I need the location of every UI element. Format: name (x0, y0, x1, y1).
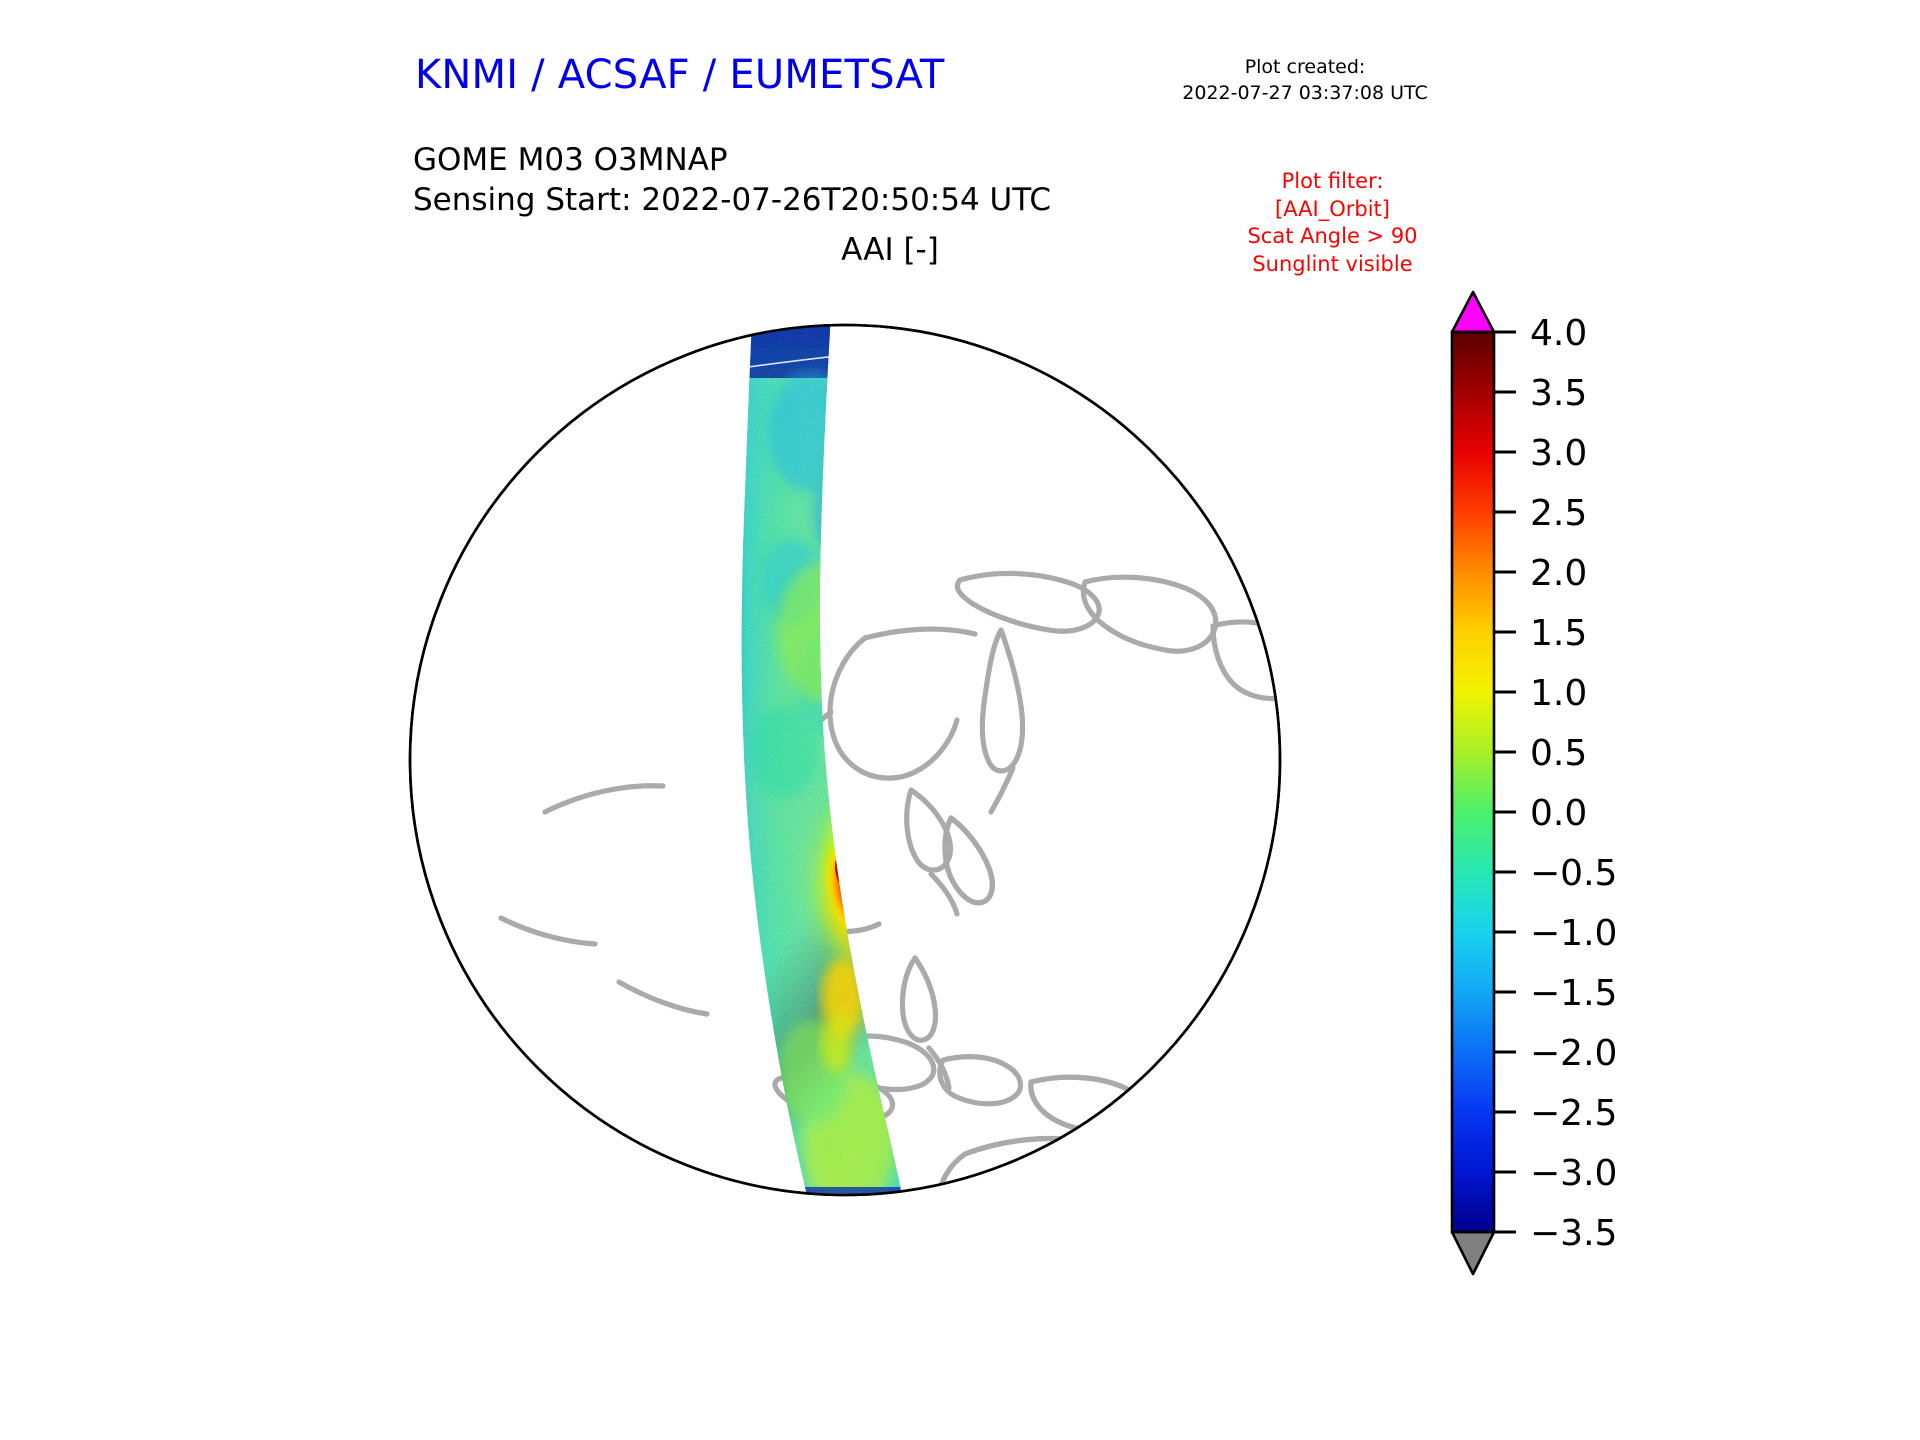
colorbar-tick-label: −3.0 (1530, 1153, 1617, 1194)
colorbar-tick-label: 2.0 (1530, 553, 1587, 594)
colorbar-gradient (1452, 332, 1494, 1232)
colorbar-tick-label: 3.5 (1530, 373, 1587, 414)
colorbar-tick-label: 2.5 (1530, 493, 1587, 534)
colorbar-over-arrow (1452, 292, 1494, 332)
map-panel (395, 282, 1295, 1282)
colorbar-tick-label: −2.0 (1530, 1033, 1617, 1074)
colorbar-tick-labels: 4.03.53.02.52.01.51.00.50.0−0.5−1.0−1.5−… (1530, 313, 1617, 1254)
instrument-product-line: GOME M03 O3MNAP (413, 140, 1051, 180)
colorbar-tick-label: 0.0 (1530, 793, 1587, 834)
colorbar-tick-label: −2.5 (1530, 1093, 1617, 1134)
colorbar-tick-label: 1.5 (1530, 613, 1587, 654)
plot-filter-sunglint: Sunglint visible (1215, 251, 1450, 279)
colorbar-tick-label: 3.0 (1530, 433, 1587, 474)
colorbar-tick-label: −1.0 (1530, 913, 1617, 954)
colorbar-tick-label: 4.0 (1530, 313, 1587, 354)
plot-created-label: Plot created: (1160, 55, 1450, 81)
colorbar-ticks (1494, 332, 1516, 1232)
colorbar-tick-label: −3.5 (1530, 1213, 1617, 1254)
plot-canvas: KNMI / ACSAF / EUMETSAT Plot created: 20… (0, 0, 1920, 1440)
colorbar-panel: 4.03.53.02.52.01.51.00.50.0−0.5−1.0−1.5−… (1430, 282, 1680, 1322)
plot-filter-name: [AAI_Orbit] (1215, 196, 1450, 224)
plot-filter-label: Plot filter: (1215, 168, 1450, 196)
colorbar-under-arrow (1452, 1232, 1494, 1274)
colorbar-tick-label: 1.0 (1530, 673, 1587, 714)
colorbar-tick-label: −0.5 (1530, 853, 1617, 894)
plot-created-block: Plot created: 2022-07-27 03:37:08 UTC (1160, 55, 1450, 106)
colorbar-tick-label: 0.5 (1530, 733, 1587, 774)
colorbar-tick-label: −1.5 (1530, 973, 1617, 1014)
variable-title: AAI [-] (760, 232, 1020, 268)
plot-filter-scat-angle: Scat Angle > 90 (1215, 223, 1450, 251)
sensing-start-line: Sensing Start: 2022-07-26T20:50:54 UTC (413, 180, 1051, 220)
organization-title: KNMI / ACSAF / EUMETSAT (415, 52, 945, 98)
plot-created-timestamp: 2022-07-27 03:37:08 UTC (1160, 81, 1450, 107)
product-info-block: GOME M03 O3MNAP Sensing Start: 2022-07-2… (413, 140, 1051, 221)
plot-filter-block: Plot filter: [AAI_Orbit] Scat Angle > 90… (1215, 168, 1450, 279)
